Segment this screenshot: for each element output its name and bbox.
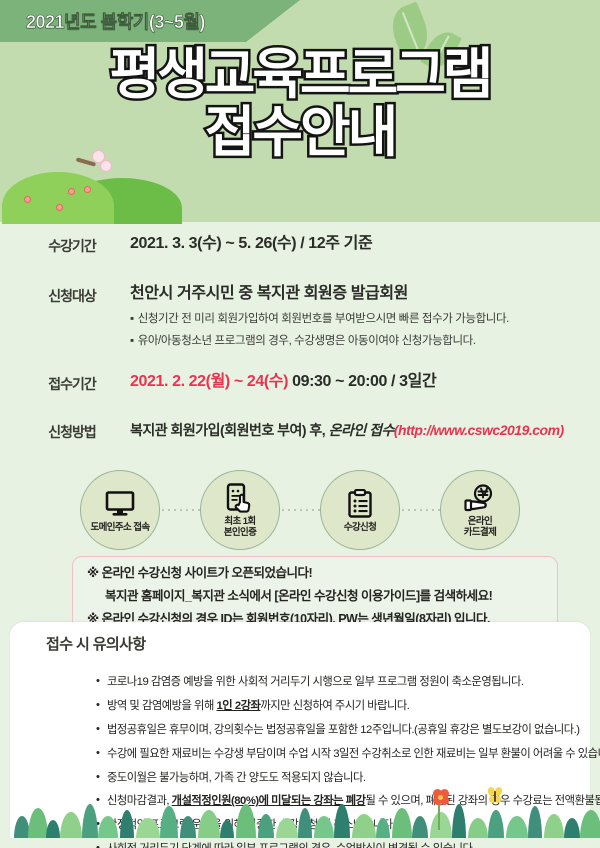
value-course-period: 2021. 3. 3(수) ~ 5. 26(수) / 12주 기준 xyxy=(130,234,600,255)
step-caption: 수강신청 xyxy=(344,523,377,534)
notice-line-1: ※ 온라인 수강신청 사이트가 오픈되었습니다! xyxy=(87,564,543,583)
value-application-period: 2021. 2. 22(월) ~ 24(수) 09:30 ~ 20:00 / 3… xyxy=(130,372,600,393)
how-to-apply-emphasis: 온라인 접수 xyxy=(329,422,394,438)
phone-touch-icon xyxy=(225,481,255,515)
step-caption: 최초 1회본인인증 xyxy=(224,517,257,539)
label-course-period: 수강기간 xyxy=(28,234,116,260)
title-line-1: 평생교육프로그램 xyxy=(0,46,600,102)
clipboard-icon xyxy=(347,487,373,521)
application-period-hours: 09:30 ~ 20:00 / 3일간 xyxy=(292,373,436,390)
caution-emphasis: 1인 2강좌 xyxy=(217,700,261,712)
cautions-title: 접수 시 유의사항 xyxy=(42,632,154,657)
step-connector-dots xyxy=(400,509,440,511)
header-background: 2021년도 봄학기(3~5월) 평생교육프로그램 접수안내 xyxy=(0,0,600,222)
bush-flower-dot xyxy=(68,188,75,195)
title-line-2: 접수안내 xyxy=(0,104,600,160)
monitor-icon xyxy=(105,487,135,521)
grass-decoration xyxy=(10,792,600,838)
caution-item: 코로나19 감염증 예방을 위한 사회적 거리두기 시행으로 일부 프로그램 정… xyxy=(96,674,600,690)
info-section: 수강기간 2021. 3. 3(수) ~ 5. 26(수) / 12주 기준 신… xyxy=(0,232,600,450)
step-domain-access[interactable]: 도메인주소 접속 xyxy=(80,470,160,550)
step-online-card-payment[interactable]: 온라인카드결제 xyxy=(440,470,520,550)
info-row-how-to-apply: 신청방법 복지관 회원가입(회원번호 부여) 후, 온라인 접수(http://… xyxy=(0,420,600,446)
caution-item: 중도이월은 불가능하며, 가족 간 양도도 적용되지 않습니다. xyxy=(96,770,600,786)
caution-item: 방역 및 감염예방을 위해 1인 2강좌까지만 신청하여 주시기 바랍니다. xyxy=(96,698,600,714)
caution-item: 법정공휴일은 휴무이며, 강의횟수는 법정공휴일을 포함한 12주입니다.(공휴… xyxy=(96,722,600,738)
notice-line-2: 복지관 홈페이지_복지관 소식에서 [온라인 수강신청 이용가이드]를 검색하세… xyxy=(87,587,543,606)
application-period-dates: 2021. 2. 22(월) ~ 24(수) xyxy=(130,373,288,390)
step-connector-dots xyxy=(160,509,200,511)
step-caption: 도메인주소 접속 xyxy=(90,523,149,534)
step-caption: 온라인카드결제 xyxy=(464,517,497,539)
eligibility-note-1: ▪신청기간 전 미리 회원가입하여 회원번호를 부여받으시면 빠른 접수가 가능… xyxy=(130,312,600,328)
value-how-to-apply: 복지관 회원가입(회원번호 부여) 후, 온라인 접수(http://www.c… xyxy=(130,420,600,440)
eligibility-note-2: ▪유아/아동청소년 프로그램의 경우, 수강생명은 아동이여야 신청가능합니다. xyxy=(130,334,600,350)
caution-item: 사회적 거리두기 단계에 따라 일부 프로그램의 경우, 수업방식이 변경될 수… xyxy=(96,841,600,848)
step-connector-dots xyxy=(280,509,320,511)
caution-item: 수강에 필요한 재료비는 수강생 부담이며 수업 시작 3일전 수강취소로 인한… xyxy=(96,746,600,762)
cautions-panel: 접수 시 유의사항 코로나19 감염증 예방을 위한 사회적 거리두기 시행으로… xyxy=(10,622,590,838)
butterfly-body xyxy=(494,791,496,802)
flower-center xyxy=(438,795,443,800)
step-identity-verification[interactable]: 최초 1회본인인증 xyxy=(200,470,280,550)
info-row-eligibility: 신청대상 천안시 거주시민 중 복지관 회원증 발급회원 ▪신청기간 전 미리 … xyxy=(0,284,600,350)
semester-banner-label: 2021년도 봄학기(3~5월) xyxy=(26,8,205,34)
how-to-apply-prefix: 복지관 회원가입(회원번호 부여) 후, xyxy=(130,422,329,438)
poster-title: 평생교육프로그램 접수안내 xyxy=(0,46,600,160)
bush-flower-dot xyxy=(24,196,31,203)
info-row-course-period: 수강기간 2021. 3. 3(수) ~ 5. 26(수) / 12주 기준 xyxy=(0,234,600,260)
bush-flower-dot xyxy=(56,204,63,211)
butterfly-icon xyxy=(100,160,112,172)
application-website-url[interactable]: (http://www.cswc2019.com) xyxy=(394,422,564,438)
label-application-period: 접수기간 xyxy=(28,372,116,398)
application-steps: 도메인주소 접속 최초 1회본인인증 xyxy=(0,470,600,550)
step-course-registration[interactable]: 수강신청 xyxy=(320,470,400,550)
label-how-to-apply: 신청방법 xyxy=(28,420,116,446)
bush-flower-dot xyxy=(84,186,91,193)
value-eligibility: 천안시 거주시민 중 복지관 회원증 발급회원 xyxy=(130,284,600,305)
info-row-application-period: 접수기간 2021. 2. 22(월) ~ 24(수) 09:30 ~ 20:0… xyxy=(0,372,600,398)
label-eligibility: 신청대상 xyxy=(28,284,116,310)
hand-card-payment-icon xyxy=(464,481,496,515)
poster-root: 2021년도 봄학기(3~5월) 평생교육프로그램 접수안내 수강기간 xyxy=(0,0,600,848)
